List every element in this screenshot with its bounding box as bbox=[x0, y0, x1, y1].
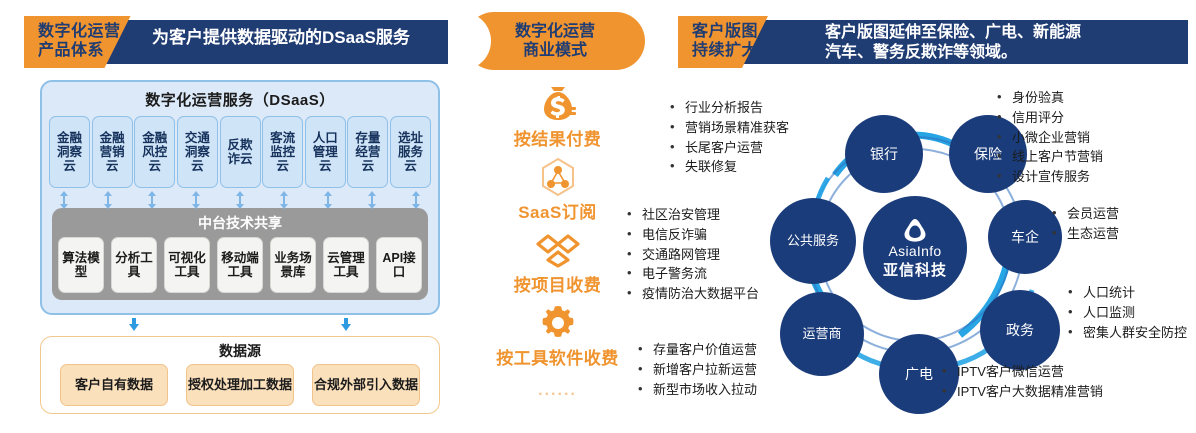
node-operator[interactable]: 运营商 bbox=[780, 292, 864, 376]
bullet-item: 长尾客户运营 bbox=[670, 138, 789, 158]
cloud-product-label: 交通洞察云 bbox=[179, 131, 216, 173]
platform-tool-label: 算法模型 bbox=[60, 251, 102, 279]
business-model-header-line1: 数字化运营 bbox=[515, 23, 595, 40]
cloud-product-box[interactable]: 金融营销云 bbox=[92, 116, 133, 188]
bullet-item: 交通路网管理 bbox=[627, 245, 759, 265]
cloud-product-box[interactable]: 金融洞察云 bbox=[49, 116, 90, 188]
bullet-item: 密集人群安全防控 bbox=[1068, 323, 1187, 343]
right-header-title-line2: 汽车、警务反欺诈等领域。 bbox=[825, 43, 1081, 63]
bullet-item: IPTV客户微信运营 bbox=[942, 362, 1103, 382]
cloud-product-label: 金融风控云 bbox=[136, 131, 173, 173]
platform-tools-row: 算法模型分析工具可视化工具移动端工具业务场景库云管理工具API接口 bbox=[58, 237, 422, 293]
double-arrow-icon bbox=[147, 191, 157, 206]
platform-tool-box[interactable]: 算法模型 bbox=[58, 237, 104, 293]
right-header-title-line1: 客户版图延伸至保险、广电、新能源 bbox=[825, 23, 1081, 43]
insurance-bullets: 身份验真信用评分小微企业营销线上客户节营销设计宣传服务 bbox=[997, 88, 1103, 187]
node-broadcast-label: 广电 bbox=[905, 366, 933, 382]
bullet-item: IPTV客户大数据精准营销 bbox=[942, 382, 1103, 402]
bullet-item: 人口统计 bbox=[1068, 283, 1187, 303]
datasource-items-row: 客户自有数据授权处理加工数据合规外部引入数据 bbox=[41, 361, 439, 406]
node-bank[interactable]: 银行 bbox=[845, 115, 923, 193]
business-model-item-label: SaaS订阅 bbox=[518, 198, 597, 223]
down-arrow-icon bbox=[340, 318, 352, 338]
business-model-header: 数字化运营 商业模式 bbox=[465, 12, 645, 70]
platform-tool-box[interactable]: 分析工具 bbox=[111, 237, 157, 293]
center-brand-node: AsiaInfo 亚信科技 bbox=[863, 196, 967, 300]
node-auto[interactable]: 车企 bbox=[988, 200, 1062, 274]
cloud-product-box[interactable]: 金融风控云 bbox=[134, 116, 175, 188]
double-arrow-icon bbox=[323, 191, 333, 206]
platform-tool-box[interactable]: 可视化工具 bbox=[164, 237, 210, 293]
bullet-item: 生态运营 bbox=[1052, 224, 1119, 244]
money-bag-icon bbox=[538, 84, 578, 124]
bullet-item: 疫情防治大数据平台 bbox=[627, 284, 759, 304]
cloud-product-label: 金融营销云 bbox=[94, 131, 131, 173]
center-brand-cn: 亚信科技 bbox=[883, 259, 947, 280]
gear-icon bbox=[540, 303, 576, 343]
cloud-product-label: 选址服务云 bbox=[392, 131, 429, 173]
cloud-product-box[interactable]: 存量经营云 bbox=[347, 116, 388, 188]
platform-tool-label: API接口 bbox=[378, 251, 420, 279]
platform-tool-label: 可视化工具 bbox=[166, 251, 208, 279]
cloud-product-label: 金融洞察云 bbox=[51, 131, 88, 173]
left-header-title: 为客户提供数据驱动的DSaaS服务 bbox=[152, 28, 410, 49]
bullet-item: 新增客户拉新运营 bbox=[638, 360, 757, 380]
cloud-products-row: 金融洞察云金融营销云金融风控云交通洞察云反欺诈云客流监控云人口管理云存量经营云选… bbox=[42, 110, 438, 188]
bullet-item: 存量客户价值运营 bbox=[638, 340, 757, 360]
cloud-product-label: 客流监控云 bbox=[264, 131, 301, 173]
node-public-service[interactable]: 公共服务 bbox=[770, 198, 856, 284]
business-model-more: ...... bbox=[538, 382, 577, 400]
business-model-header-line2: 商业模式 bbox=[523, 42, 587, 59]
bullet-item: 身份验真 bbox=[997, 88, 1103, 108]
bullet-item: 行业分析报告 bbox=[670, 98, 789, 118]
double-arrow-icon bbox=[103, 191, 113, 206]
asiainfo-logo-icon bbox=[898, 217, 932, 243]
double-arrow-icon bbox=[367, 191, 377, 206]
bullet-item: 电信反诈骗 bbox=[627, 225, 759, 245]
public-service-bullets: 社区治安管理电信反诈骗交通路网管理电子警务流疫情防治大数据平台 bbox=[627, 205, 759, 304]
platform-tool-box[interactable]: 移动端工具 bbox=[217, 237, 263, 293]
double-arrow-icon bbox=[411, 191, 421, 206]
dsaas-panel: 数字化运营服务（DSaaS） 金融洞察云金融营销云金融风控云交通洞察云反欺诈云客… bbox=[40, 80, 440, 315]
cloud-to-platform-arrows bbox=[42, 188, 438, 208]
datasource-box[interactable]: 合规外部引入数据 bbox=[312, 364, 420, 406]
infographic-canvas: 数字化运营 产品体系 为客户提供数据驱动的DSaaS服务 数字化运营服务（DSa… bbox=[0, 0, 1196, 433]
cloud-product-box[interactable]: 选址服务云 bbox=[390, 116, 431, 188]
right-column: 客户版图 持续扩大 客户版图延伸至保险、广电、新能源 汽车、警务反欺诈等领域。 bbox=[660, 0, 1196, 433]
business-model-item-label: 按工具软件收费 bbox=[496, 344, 619, 369]
bullet-item: 失联修复 bbox=[670, 157, 789, 177]
broadcast-bullets: IPTV客户微信运营IPTV客户大数据精准营销 bbox=[942, 362, 1103, 402]
bank-bullets: 行业分析报告营销场景精准获客长尾客户运营失联修复 bbox=[670, 98, 789, 177]
bullet-item: 人口监测 bbox=[1068, 303, 1187, 323]
center-brand-en: AsiaInfo bbox=[889, 243, 942, 259]
bullet-item: 线上客户节营销 bbox=[997, 147, 1103, 167]
platform-tool-label: 分析工具 bbox=[113, 251, 155, 279]
platform-tool-box[interactable]: 业务场景库 bbox=[270, 237, 316, 293]
down-arrow-icon bbox=[128, 318, 140, 338]
operator-bullets: 存量客户价值运营新增客户拉新运营新型市场收入拉动 bbox=[638, 340, 757, 399]
business-model-item[interactable]: SaaS订阅 bbox=[518, 157, 597, 230]
right-header-title: 客户版图延伸至保险、广电、新能源 汽车、警务反欺诈等领域。 bbox=[825, 23, 1081, 62]
right-header-tag-line1: 客户版图 bbox=[692, 23, 758, 42]
node-government-label: 政务 bbox=[1006, 322, 1034, 338]
cloud-product-box[interactable]: 人口管理云 bbox=[305, 116, 346, 188]
bullet-item: 社区治安管理 bbox=[627, 205, 759, 225]
left-header-tag-line2: 产品体系 bbox=[38, 42, 121, 61]
node-auto-label: 车企 bbox=[1011, 229, 1039, 245]
business-model-item-label: 按结果付费 bbox=[514, 125, 602, 150]
left-header-tag-line1: 数字化运营 bbox=[38, 23, 121, 42]
platform-to-datasource-arrows bbox=[40, 318, 440, 338]
platform-tool-box[interactable]: 云管理工具 bbox=[323, 237, 369, 293]
node-bank-label: 银行 bbox=[870, 146, 898, 162]
datasource-title: 数据源 bbox=[41, 337, 439, 361]
double-arrow-icon bbox=[191, 191, 201, 206]
bullet-item: 营销场景精准获客 bbox=[670, 118, 789, 138]
cloud-product-label: 反欺诈云 bbox=[222, 138, 259, 166]
cloud-product-box[interactable]: 交通洞察云 bbox=[177, 116, 218, 188]
middle-platform-title: 中台技术共享 bbox=[58, 212, 422, 237]
cloud-product-box[interactable]: 反欺诈云 bbox=[220, 116, 261, 188]
right-section-header: 客户版图 持续扩大 客户版图延伸至保险、广电、新能源 汽车、警务反欺诈等领域。 bbox=[678, 16, 1188, 68]
node-public-service-label: 公共服务 bbox=[787, 234, 839, 249]
stacked-layers-icon bbox=[536, 230, 580, 270]
datasource-panel: 数据源 客户自有数据授权处理加工数据合规外部引入数据 bbox=[40, 336, 440, 414]
platform-tool-box[interactable]: API接口 bbox=[376, 237, 422, 293]
left-column: 数字化运营 产品体系 为客户提供数据驱动的DSaaS服务 数字化运营服务（DSa… bbox=[0, 0, 452, 433]
left-section-header: 数字化运营 产品体系 为客户提供数据驱动的DSaaS服务 bbox=[24, 16, 448, 68]
bullet-item: 小微企业营销 bbox=[997, 128, 1103, 148]
cloud-product-box[interactable]: 客流监控云 bbox=[262, 116, 303, 188]
datasource-box[interactable]: 客户自有数据 bbox=[60, 364, 168, 406]
bullet-item: 会员运营 bbox=[1052, 204, 1119, 224]
dsaas-panel-title: 数字化运营服务（DSaaS） bbox=[42, 82, 438, 110]
datasource-box[interactable]: 授权处理加工数据 bbox=[186, 364, 294, 406]
node-operator-label: 运营商 bbox=[802, 327, 841, 342]
business-model-item[interactable]: 按项目收费 bbox=[514, 230, 602, 303]
datasource-label: 客户自有数据 bbox=[75, 377, 153, 393]
platform-tool-label: 移动端工具 bbox=[219, 251, 261, 279]
double-arrow-icon bbox=[279, 191, 289, 206]
bullet-item: 设计宣传服务 bbox=[997, 167, 1103, 187]
government-bullets: 人口统计人口监测密集人群安全防控 bbox=[1068, 283, 1187, 342]
platform-tool-label: 云管理工具 bbox=[325, 251, 367, 279]
bullet-item: 信用评分 bbox=[997, 108, 1103, 128]
auto-bullets: 会员运营生态运营 bbox=[1052, 204, 1119, 244]
business-model-item-label: 按项目收费 bbox=[514, 271, 602, 296]
hexagon-nodes-icon bbox=[538, 157, 578, 197]
double-arrow-icon bbox=[235, 191, 245, 206]
double-arrow-icon bbox=[59, 191, 69, 206]
platform-tool-label: 业务场景库 bbox=[272, 251, 314, 279]
business-model-item[interactable]: 按工具软件收费 bbox=[496, 303, 619, 376]
cloud-product-label: 存量经营云 bbox=[349, 131, 386, 173]
business-model-item[interactable]: 按结果付费 bbox=[514, 84, 602, 157]
datasource-label: 合规外部引入数据 bbox=[314, 377, 418, 393]
node-government[interactable]: 政务 bbox=[980, 290, 1060, 370]
datasource-label: 授权处理加工数据 bbox=[188, 377, 292, 393]
middle-platform-block: 中台技术共享 算法模型分析工具可视化工具移动端工具业务场景库云管理工具API接口 bbox=[52, 208, 428, 300]
cloud-product-label: 人口管理云 bbox=[307, 131, 344, 173]
bullet-item: 电子警务流 bbox=[627, 264, 759, 284]
bullet-item: 新型市场收入拉动 bbox=[638, 380, 757, 400]
